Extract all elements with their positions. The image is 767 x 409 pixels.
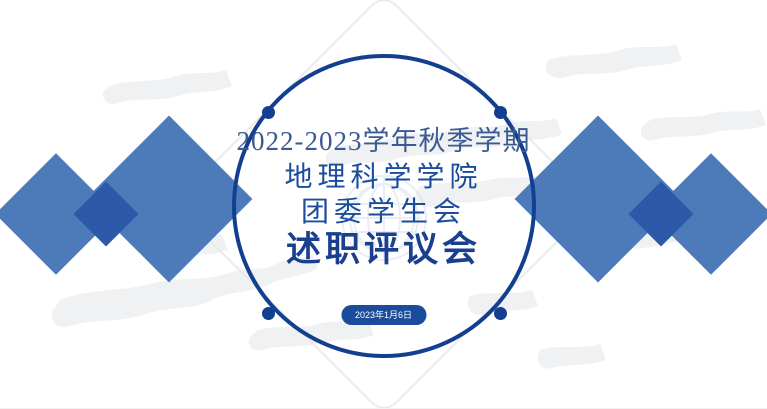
ring-dot-top-right [494,106,507,119]
title-slide: 2022-2023学年秋季学期 地理科学学院 团委学生会 述职评议会 2023年… [0,0,767,409]
ring-dot-bottom-left [262,307,275,320]
date-badge: 2023年1月6日 [341,305,426,325]
title-block: 2022-2023学年秋季学期 地理科学学院 团委学生会 述职评议会 [0,128,767,267]
title-line-college: 地理科学学院 [0,164,767,192]
title-line-academic-year: 2022-2023学年秋季学期 [0,128,767,155]
ring-dot-top-left [262,106,275,119]
title-line-organization: 团委学生会 [0,199,767,227]
title-line-event: 述职评议会 [0,232,767,267]
ring-dot-bottom-right [494,307,507,320]
